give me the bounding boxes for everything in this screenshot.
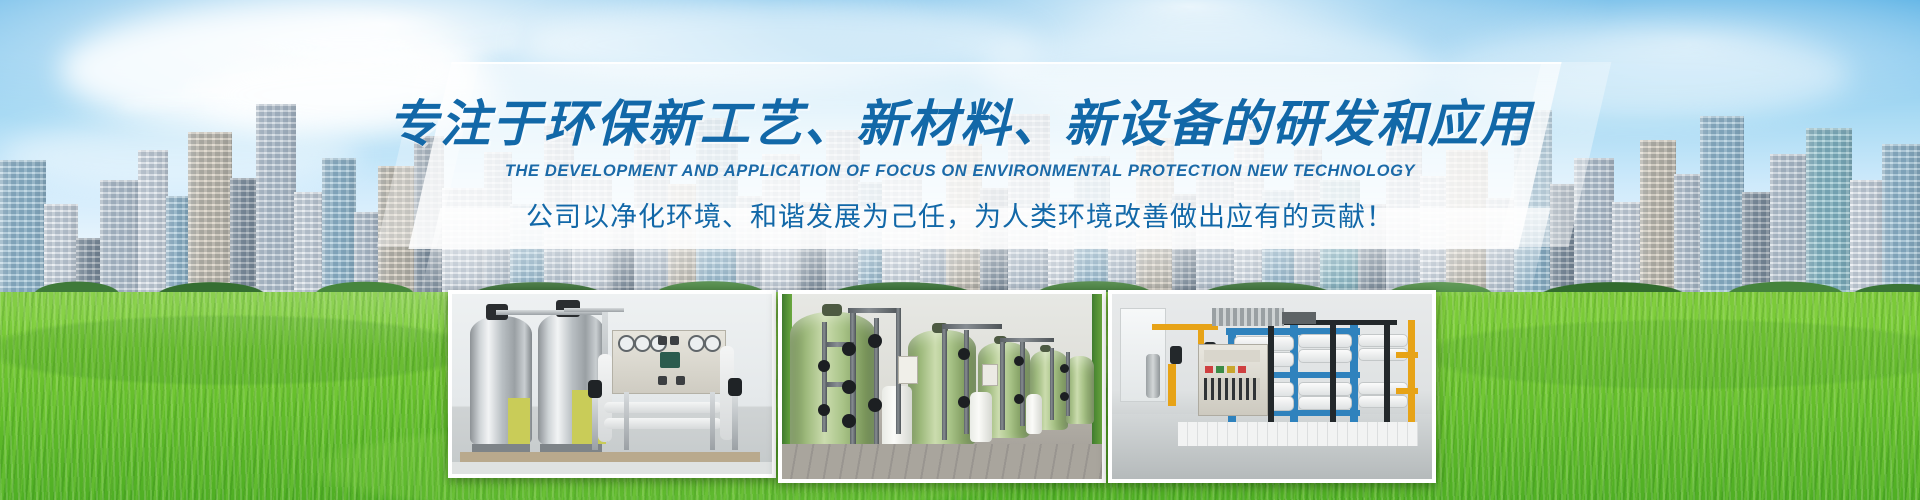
banner-tagline: 公司以净化环境、和谐发展为己任，为人类环境改善做出应有的贡献！ [0, 195, 1920, 234]
photo-card-ro-skid[interactable] [448, 290, 776, 478]
photo-card-frp-tanks[interactable] [778, 290, 1106, 483]
banner-text-block: 专注于环保新工艺、新材料、新设备的研发和应用 THE DEVELOPMENT A… [0, 96, 1920, 234]
banner-headline: 专注于环保新工艺、新材料、新设备的研发和应用 [0, 96, 1920, 154]
banner-subline-english: THE DEVELOPMENT AND APPLICATION OF FOCUS… [0, 162, 1920, 181]
photo-card-industrial-ro[interactable] [1108, 290, 1436, 483]
photo-row [0, 290, 1920, 490]
promo-banner: 专注于环保新工艺、新材料、新设备的研发和应用 THE DEVELOPMENT A… [0, 0, 1920, 500]
